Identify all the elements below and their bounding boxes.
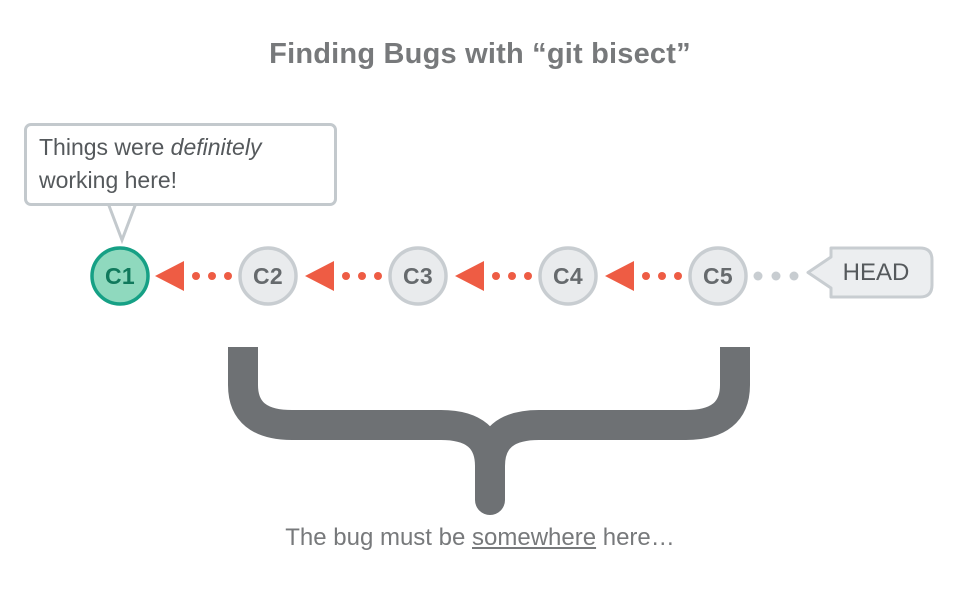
diagram-canvas: Finding Bugs with “git bisect”	[0, 0, 960, 600]
commit-label-c2: C2	[236, 244, 300, 308]
commit-label-c5: C5	[686, 244, 750, 308]
callout-text-after: working here!	[39, 167, 177, 193]
caption-text-underlined: somewhere	[472, 524, 596, 551]
callout-text: Things were definitely working here!	[39, 131, 331, 197]
arrow-c3-to-c2	[305, 261, 382, 291]
callout-text-emphasis: definitely	[171, 134, 262, 160]
commit-label-c3: C3	[386, 244, 450, 308]
caption-text-after: here…	[596, 524, 675, 551]
arrow-c5-to-c4	[605, 261, 682, 291]
head-label: HEAD	[820, 248, 932, 298]
callout-text-before: Things were	[39, 134, 171, 160]
commit-label-c1: C1	[88, 244, 152, 308]
dotted-link-head	[754, 272, 799, 281]
arrow-c2-to-c1	[155, 261, 232, 291]
arrow-c4-to-c3	[455, 261, 532, 291]
caption-text-before: The bug must be	[285, 524, 472, 551]
commit-label-c4: C4	[536, 244, 600, 308]
curly-brace-icon	[243, 347, 735, 500]
caption: The bug must be somewhere here…	[0, 524, 960, 552]
